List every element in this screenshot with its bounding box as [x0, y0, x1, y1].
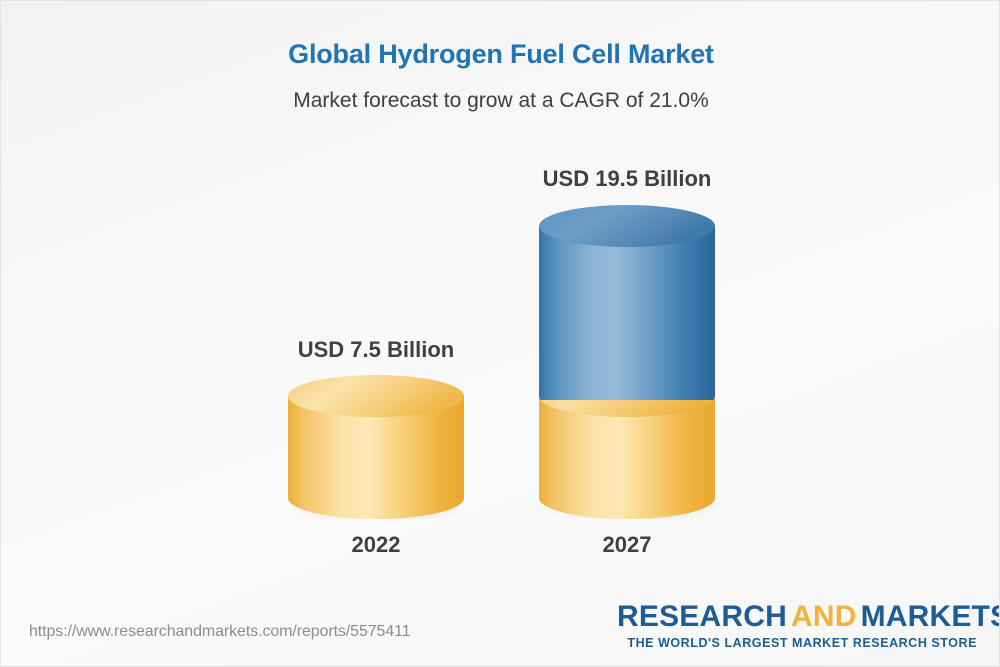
category-label-2022: 2022: [276, 532, 476, 558]
logo-markets: MARKETS: [861, 600, 1000, 633]
logo-and: AND: [791, 600, 857, 633]
plot-area: USD 19.5 Billion USD 7.5 Billion: [1, 1, 1000, 581]
source-url[interactable]: https://www.researchandmarkets.com/repor…: [29, 623, 411, 641]
logo-tagline: THE WORLD'S LARGEST MARKET RESEARCH STOR…: [617, 636, 977, 650]
chart-canvas: Global Hydrogen Fuel Cell Market Market …: [0, 0, 1000, 667]
bar-cylinder-2027: [538, 205, 716, 519]
brand-logo: RESEARCHANDMARKETS THE WORLD'S LARGEST M…: [617, 601, 977, 650]
value-label-2022: USD 7.5 Billion: [276, 337, 476, 363]
value-label-2027: USD 19.5 Billion: [527, 166, 727, 192]
logo-wordmark: RESEARCHANDMARKETS: [617, 601, 977, 633]
category-label-2027: 2027: [527, 532, 727, 558]
bar-cylinder-2022: [287, 375, 465, 519]
logo-research: RESEARCH: [617, 600, 787, 633]
